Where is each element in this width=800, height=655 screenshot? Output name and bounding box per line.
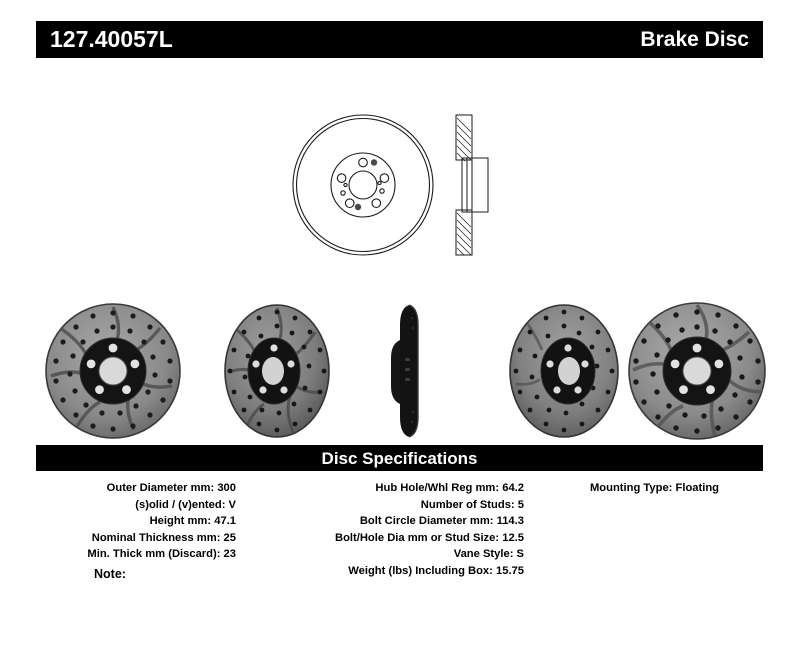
part-number: 127.40057L: [50, 28, 173, 51]
spec-label: Outer Diameter mm:: [107, 482, 215, 494]
spec-column-right: Mounting Type: Floating: [546, 480, 763, 580]
spec-label: Nominal Thickness mm:: [92, 532, 221, 544]
header-bar: 127.40057L Brake Disc: [36, 21, 763, 58]
cad-drawing-svg: [290, 88, 515, 283]
section-hatching: [457, 118, 471, 255]
spec-value: 64.2: [502, 482, 524, 494]
spec-row: Vane Style: S: [254, 546, 546, 563]
spec-value: 47.1: [214, 515, 236, 527]
lug-hole: [372, 199, 381, 208]
locating-pin-hole: [378, 181, 381, 184]
rotor-photo-edge-profile: [375, 300, 445, 442]
lug-hole: [380, 174, 389, 183]
spec-column-middle: Hub Hole/Whl Reg mm: 64.2 Number of Stud…: [254, 480, 546, 580]
rotor-photo-three-quarter-left: [205, 300, 355, 442]
spec-row: Bolt/Hole Dia mm or Stud Size: 12.5: [254, 530, 546, 547]
spec-label: Hub Hole/Whl Reg mm:: [375, 482, 499, 494]
spec-value: 300: [217, 482, 236, 494]
spec-row: Min. Thick mm (Discard): 23: [36, 546, 254, 563]
rotor-photo-three-quarter-right: [490, 300, 640, 442]
spec-value: S: [517, 548, 524, 560]
spec-panel-title: Disc Specifications: [322, 450, 478, 467]
spec-label: Min. Thick mm (Discard):: [87, 548, 220, 560]
center-bore: [262, 357, 284, 385]
spec-row: Hub Hole/Whl Reg mm: 64.2: [254, 480, 546, 497]
spec-row: Bolt Circle Diameter mm: 114.3: [254, 513, 546, 530]
locating-pin-hole: [380, 189, 384, 193]
spec-value: 5: [518, 499, 524, 511]
rotor-inner-edge: [297, 119, 430, 252]
spec-columns: Outer Diameter mm: 300 (s)olid / (v)ente…: [36, 471, 763, 580]
center-bore: [349, 171, 377, 199]
spec-label: Bolt/Hole Dia mm or Stud Size:: [335, 532, 499, 544]
rotor-hat-profile: [391, 340, 400, 404]
spec-value: 23: [224, 548, 236, 560]
locating-pin-hole: [341, 191, 345, 195]
note-label: Note:: [94, 567, 126, 581]
alignment-dots: [355, 159, 377, 210]
rotor-edge-body: [400, 305, 418, 437]
spec-row: Number of Studs: 5: [254, 497, 546, 514]
spec-value: 12.5: [502, 532, 524, 544]
spec-label: (s)olid / (v)ented:: [135, 499, 225, 511]
spec-label: Number of Studs:: [421, 499, 515, 511]
spec-value: 25: [224, 532, 236, 544]
rotor-outer-edge: [293, 115, 433, 255]
center-bore: [558, 357, 580, 385]
technical-drawing: [290, 88, 515, 283]
rotor-photo-front-left-angle: [38, 300, 188, 442]
lug-hole: [345, 199, 354, 208]
product-type-label: Brake Disc: [640, 29, 749, 50]
spec-column-left: Outer Diameter mm: 300 (s)olid / (v)ente…: [36, 480, 254, 580]
spec-label: Mounting Type:: [590, 482, 672, 494]
lug-hole: [359, 158, 368, 167]
product-photo-row: [20, 300, 785, 445]
spec-row: Height mm: 47.1: [36, 513, 254, 530]
spec-value: 114.3: [497, 515, 524, 527]
disc-specifications-panel: Disc Specifications Outer Diameter mm: 3…: [36, 445, 763, 580]
spec-title-bar: Disc Specifications: [36, 445, 763, 471]
rotor-photo-face-on: [625, 300, 775, 442]
note-area: Note:: [36, 567, 763, 581]
locating-pin-hole: [344, 183, 347, 186]
spec-label: Vane Style:: [454, 548, 514, 560]
spec-row: Mounting Type: Floating: [546, 480, 763, 497]
spec-label: Height mm:: [150, 515, 212, 527]
spec-row: Outer Diameter mm: 300: [36, 480, 254, 497]
spec-value: V: [229, 499, 236, 511]
spec-value: Floating: [676, 482, 720, 494]
rotor-hat-outline: [331, 153, 395, 217]
spec-row: Nominal Thickness mm: 25: [36, 530, 254, 547]
spec-label: Bolt Circle Diameter mm:: [360, 515, 494, 527]
lug-hole: [337, 174, 346, 183]
cross-section-profile: [456, 115, 488, 255]
spec-row: (s)olid / (v)ented: V: [36, 497, 254, 514]
